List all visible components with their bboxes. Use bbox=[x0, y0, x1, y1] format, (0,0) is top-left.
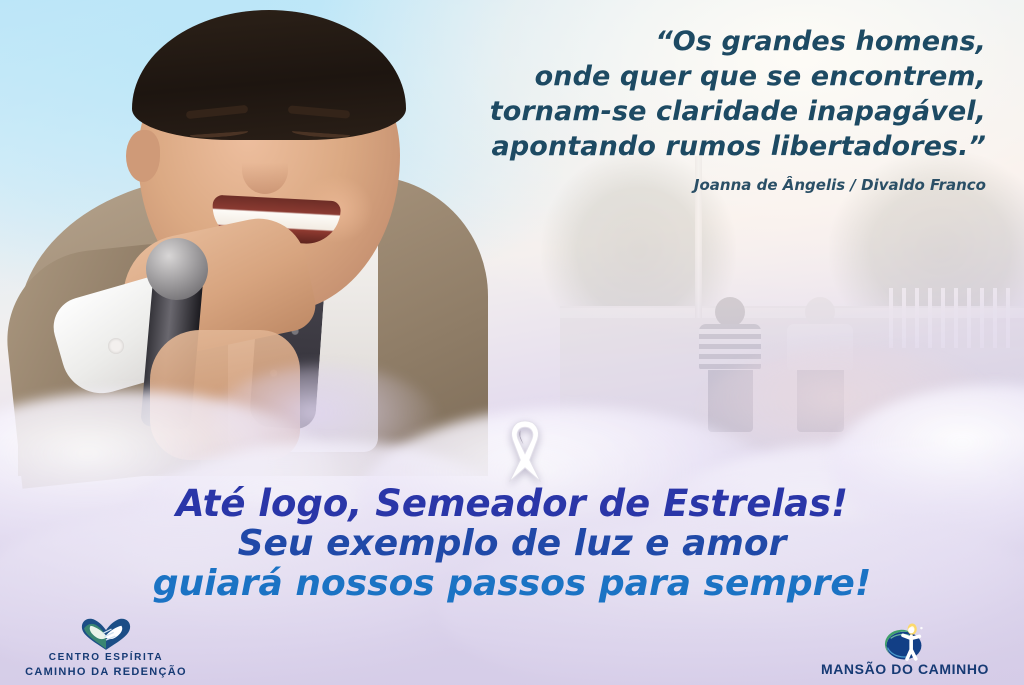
heart-hands-icon bbox=[6, 613, 206, 651]
background-photo-two-men-walking bbox=[560, 150, 1024, 450]
nose bbox=[242, 146, 288, 194]
hair bbox=[132, 10, 406, 140]
person-striped-shirt bbox=[699, 297, 761, 432]
logo-mansao-do-caminho[interactable]: MANSÃO DO CAMINHO bbox=[800, 623, 1010, 677]
headline-line-3: guiará nossos passos para sempre! bbox=[0, 564, 1024, 604]
hand-holding-microphone bbox=[150, 330, 300, 460]
memorial-poster: “Os grandes homens, onde quer que se enc… bbox=[0, 0, 1024, 685]
headline-block: Até logo, Semeador de Estrelas! Seu exem… bbox=[0, 484, 1024, 604]
quote-line-2: onde quer que se encontrem, bbox=[386, 59, 986, 94]
quote-block: “Os grandes homens, onde quer que se enc… bbox=[386, 24, 986, 194]
cuff-button bbox=[108, 338, 124, 354]
globe-figure-icon bbox=[800, 623, 1010, 661]
headline-line-2: Seu exemplo de luz e amor bbox=[0, 524, 1024, 564]
logo-right-text: MANSÃO DO CAMINHO bbox=[800, 661, 1010, 677]
logo-left-line-2: CAMINHO DA REDENÇÃO bbox=[6, 665, 206, 679]
logo-left-line-1: CENTRO ESPÍRITA bbox=[6, 651, 206, 665]
quote-line-1: “Os grandes homens, bbox=[386, 24, 986, 59]
logo-centro-espirita[interactable]: CENTRO ESPÍRITA CAMINHO DA REDENÇÃO bbox=[6, 613, 206, 679]
quote-attribution: Joanna de Ângelis / Divaldo Franco bbox=[386, 176, 986, 194]
ear bbox=[126, 130, 160, 182]
fence bbox=[889, 288, 1010, 348]
quote-line-3: tornam-se claridade inapagável, bbox=[386, 94, 986, 129]
person-white-shirt bbox=[787, 297, 853, 432]
headline-line-1: Até logo, Semeador de Estrelas! bbox=[0, 484, 1024, 524]
quote-line-4: apontando rumos libertadores.” bbox=[386, 129, 986, 164]
white-mourning-ribbon-icon bbox=[486, 410, 564, 488]
logo-left-text: CENTRO ESPÍRITA CAMINHO DA REDENÇÃO bbox=[6, 651, 206, 679]
